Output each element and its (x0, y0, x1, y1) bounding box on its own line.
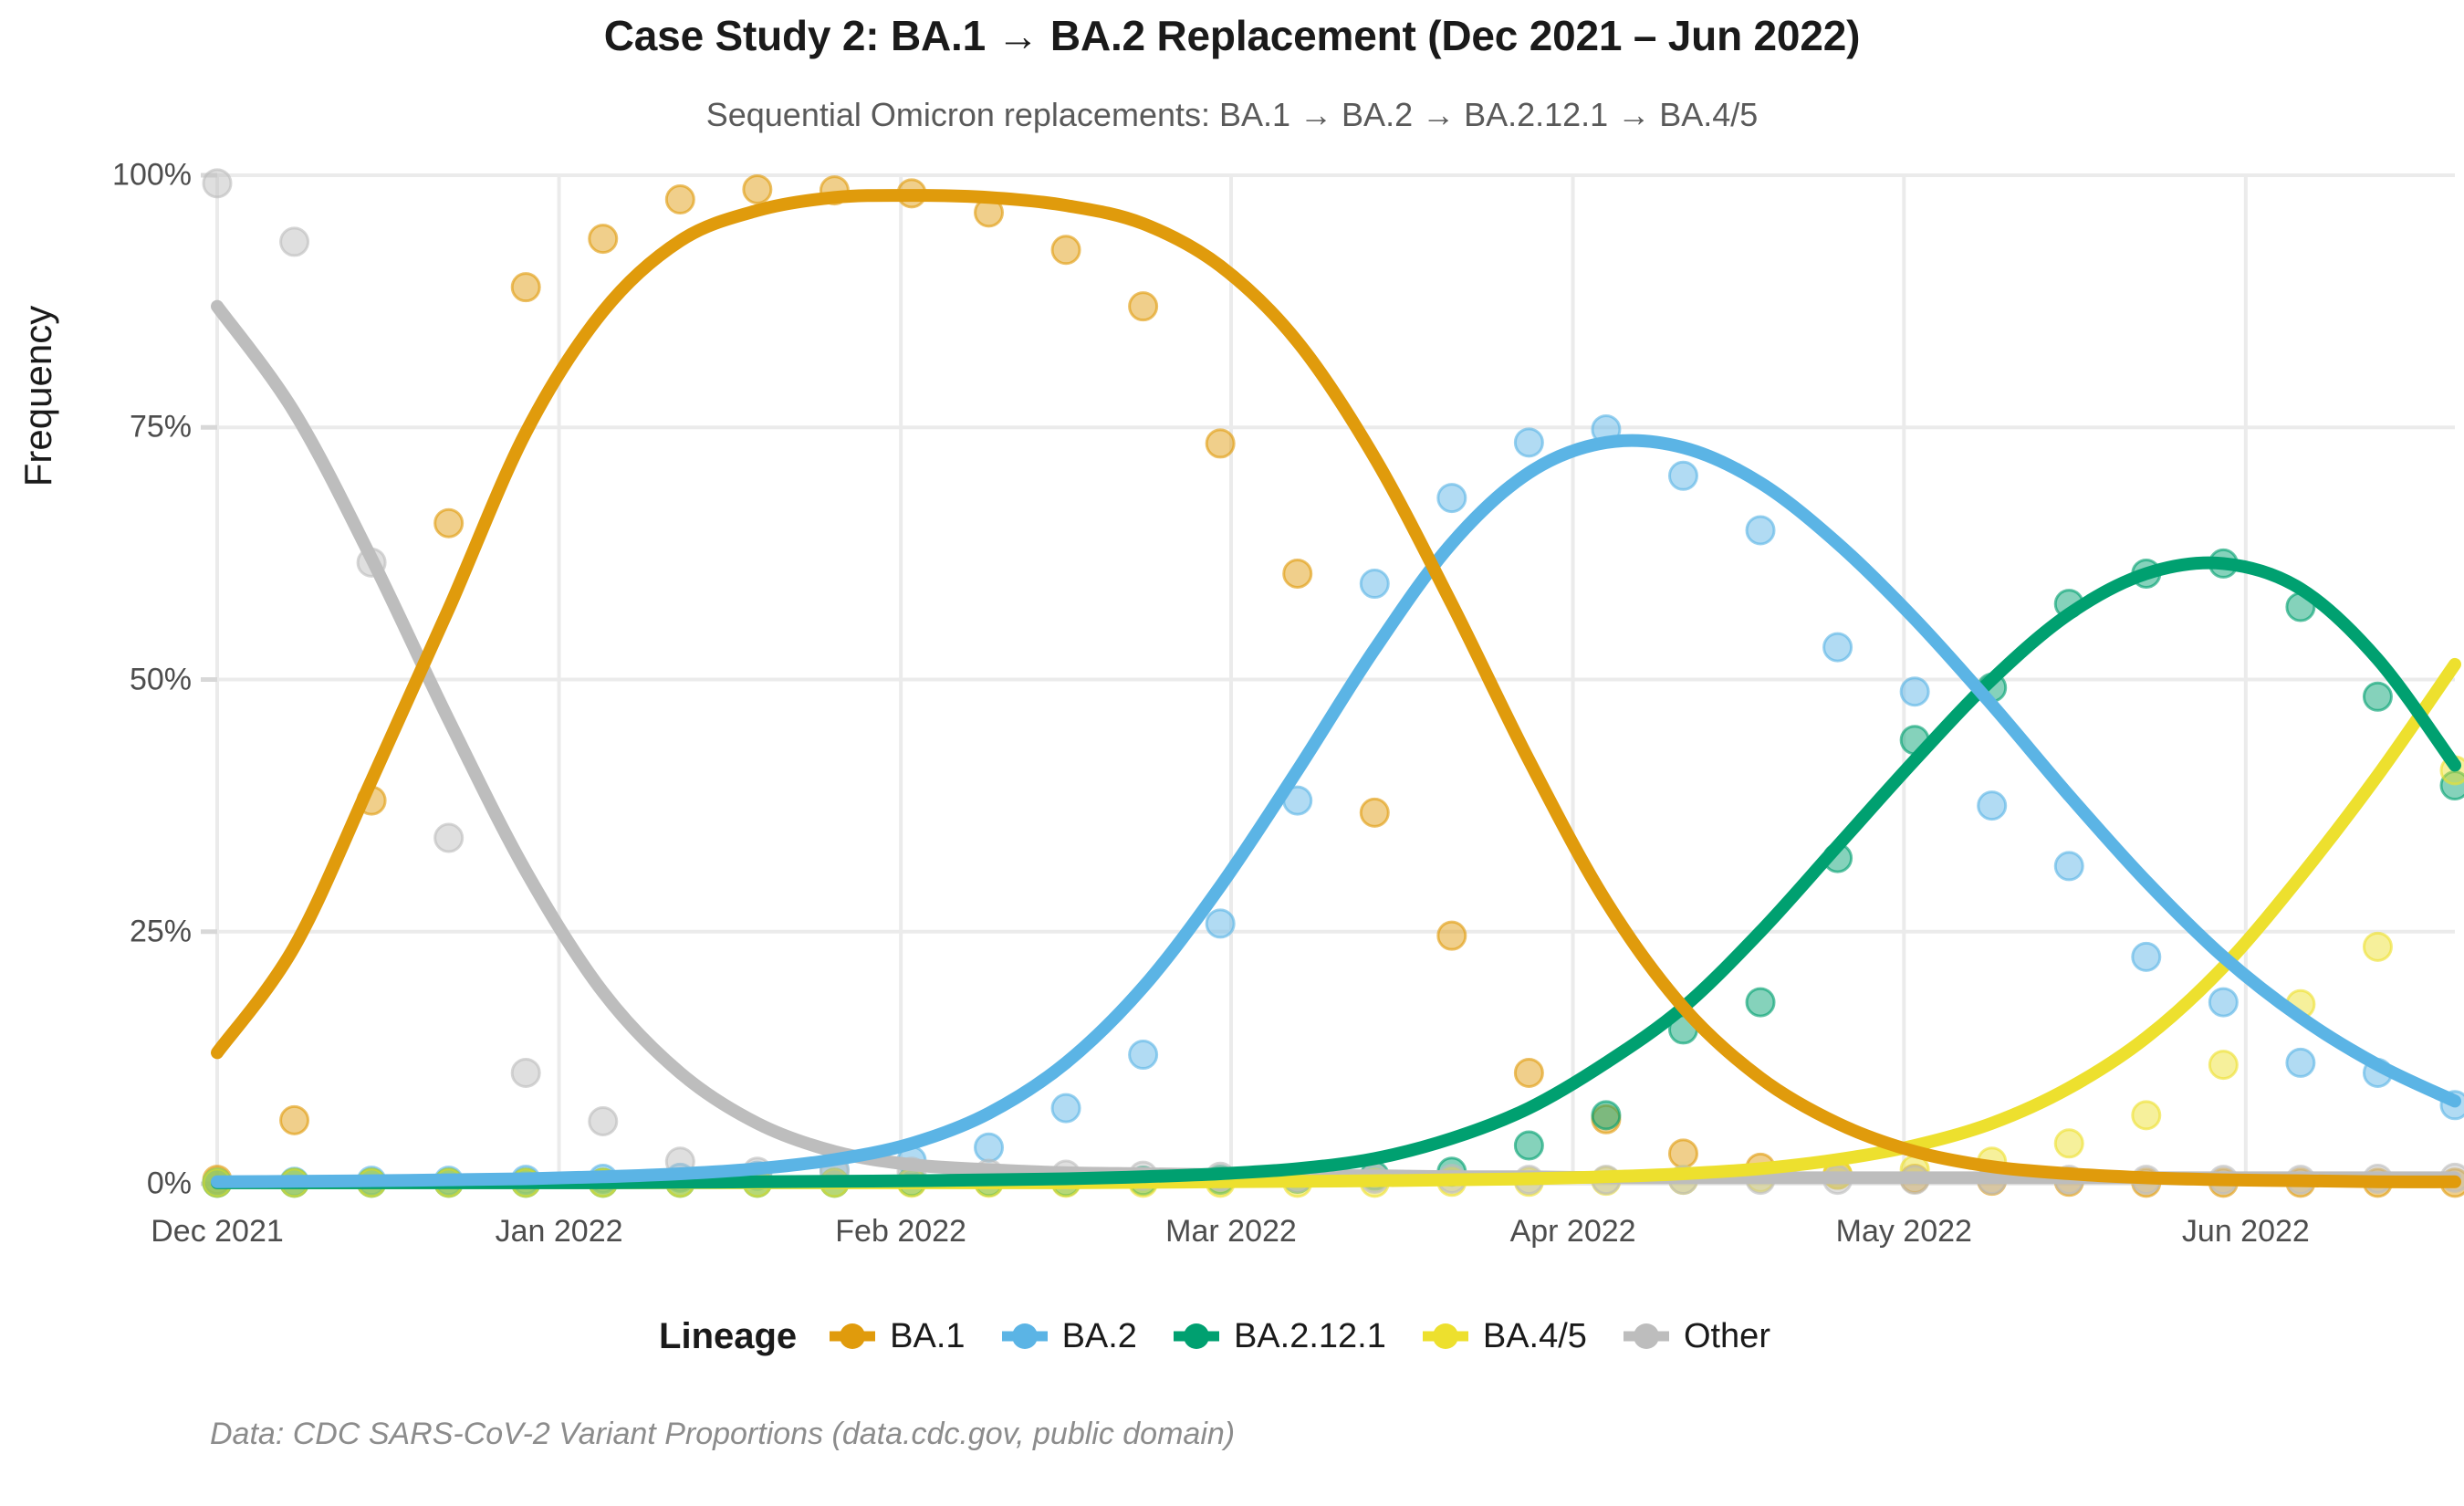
data-point (2364, 683, 2391, 710)
plot-area: Frequency 0%25%50%75%100% Dec 2021Jan 20… (0, 0, 2464, 1506)
data-point (2364, 933, 2391, 960)
chart-figure: Case Study 2: BA.1 → BA.2 Replacement (D… (0, 0, 2464, 1506)
x-tick-label: Apr 2022 (1510, 1214, 1636, 1250)
data-point (435, 509, 463, 537)
x-tick-label: Jan 2022 (496, 1214, 623, 1250)
y-tick-label: 25% (27, 914, 192, 949)
data-point (1592, 1102, 1620, 1129)
x-tick-label: Mar 2022 (1165, 1214, 1297, 1250)
data-point (204, 170, 231, 197)
y-tick-label: 0% (27, 1166, 192, 1202)
data-point (1515, 429, 1542, 456)
data-point (1130, 1041, 1157, 1069)
data-point (2133, 1102, 2160, 1129)
x-tick-label: Feb 2022 (835, 1214, 966, 1250)
scatter-points (204, 170, 2464, 1197)
legend-item[interactable]: BA.2.12.1 (1172, 1312, 1386, 1361)
data-point (2209, 1051, 2237, 1079)
fit-lines (217, 195, 2455, 1183)
data-point (1901, 678, 1928, 706)
chart-legend: Lineage BA.1BA.2BA.2.12.1BA.4/5Other (0, 1312, 2464, 1361)
data-point (976, 1134, 1003, 1161)
legend-key-icon (1172, 1312, 1221, 1361)
data-point (1206, 910, 1234, 937)
data-point (1052, 236, 1080, 264)
data-point (435, 824, 463, 852)
data-point (1052, 1094, 1080, 1122)
legend-item-label: BA.2.12.1 (1234, 1317, 1386, 1356)
series-line-ba-2-12-1 (217, 563, 2455, 1183)
y-tick-label: 100% (27, 158, 192, 193)
legend-title: Lineage (659, 1316, 797, 1357)
data-point (512, 274, 539, 301)
data-point (1979, 792, 2006, 820)
gridlines (217, 175, 2455, 1184)
data-point (1747, 988, 1774, 1016)
data-point (1206, 430, 1234, 457)
plot-canvas (0, 0, 2464, 1506)
legend-item[interactable]: BA.4/5 (1421, 1312, 1587, 1361)
data-point (1824, 633, 1852, 661)
axis-tick-marks (201, 175, 217, 1184)
y-tick-label: 75% (27, 410, 192, 445)
chart-caption: Data: CDC SARS-CoV-2 Variant Proportions… (210, 1417, 1235, 1452)
data-point (666, 186, 694, 214)
legend-item-label: BA.1 (890, 1317, 965, 1356)
data-point (1130, 293, 1157, 320)
data-point (1361, 799, 1388, 826)
series-line-ba-2 (217, 441, 2455, 1182)
data-point (1361, 570, 1388, 598)
legend-key-icon (1622, 1312, 1671, 1361)
legend-key-icon (828, 1312, 877, 1361)
legend-item[interactable]: Other (1622, 1312, 1770, 1361)
data-point (512, 1059, 539, 1086)
data-point (281, 1106, 308, 1134)
data-point (1669, 1140, 1697, 1167)
legend-key-icon (1421, 1312, 1470, 1361)
data-point (590, 225, 617, 253)
legend-item[interactable]: BA.1 (828, 1312, 965, 1361)
data-point (1515, 1059, 1542, 1086)
data-point (1747, 517, 1774, 544)
data-point (281, 228, 308, 256)
legend-key-icon (1000, 1312, 1049, 1361)
data-point (2209, 988, 2237, 1016)
data-point (1515, 1132, 1542, 1159)
x-tick-label: Jun 2022 (2182, 1214, 2310, 1250)
data-point (2055, 852, 2083, 880)
series-line-ba-1 (217, 195, 2455, 1182)
y-axis-ticks: 0%25%50%75%100% (18, 0, 192, 1506)
y-tick-label: 50% (27, 662, 192, 697)
x-tick-label: May 2022 (1836, 1214, 1972, 1250)
legend-item-label: BA.2 (1062, 1317, 1137, 1356)
x-tick-label: Dec 2021 (151, 1214, 284, 1250)
series-line-other (217, 307, 2455, 1178)
data-point (2287, 1049, 2314, 1076)
data-point (744, 175, 771, 203)
data-point (1284, 560, 1311, 587)
data-point (2055, 1130, 2083, 1157)
data-point (590, 1107, 617, 1135)
data-point (2133, 943, 2160, 970)
legend-item-label: Other (1684, 1317, 1770, 1356)
data-point (1669, 462, 1697, 489)
data-point (1438, 922, 1466, 949)
data-point (1438, 485, 1466, 512)
legend-item-label: BA.4/5 (1483, 1317, 1587, 1356)
legend-item[interactable]: BA.2 (1000, 1312, 1137, 1361)
